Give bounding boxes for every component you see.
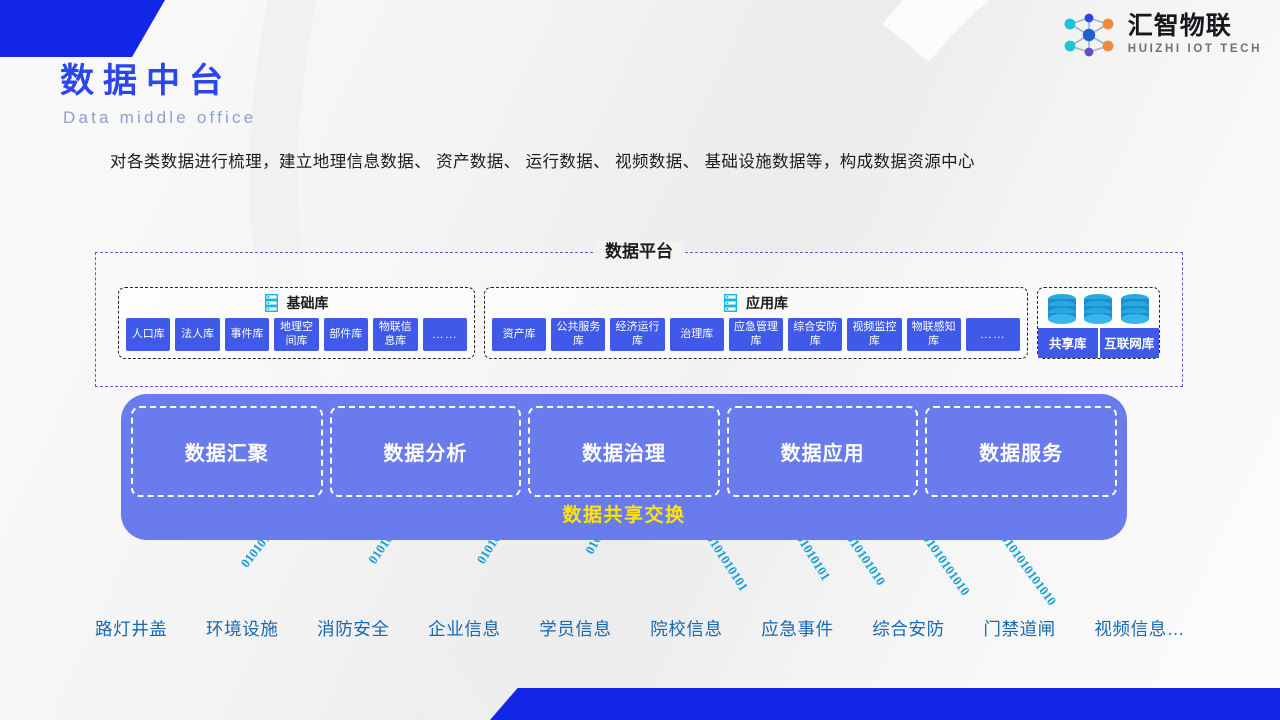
- bottom-tag[interactable]: 院校信息: [650, 616, 722, 641]
- page-title: 数据中台: [60, 64, 232, 98]
- bottom-tag[interactable]: 视频信息…: [1094, 616, 1185, 641]
- capability-cell[interactable]: 数据分析: [330, 406, 522, 497]
- binary-string: 0101010101: [703, 531, 752, 594]
- bottom-tag-row: 路灯井盖 环境设施 消防安全 企业信息 学员信息 院校信息 应急事件 综合安防 …: [95, 616, 1185, 641]
- library-chip[interactable]: 部件库: [324, 318, 368, 351]
- database-cylinder-icon: [1118, 293, 1152, 325]
- application-library-chips: 资产库 公共服务库 经济运行库 治理库 应急管理库 综合安防库 视频监控库 物联…: [492, 318, 1020, 351]
- capability-cell[interactable]: 数据汇聚: [131, 406, 323, 497]
- bottom-tag[interactable]: 学员信息: [539, 616, 611, 641]
- bottom-tag[interactable]: 消防安全: [317, 616, 389, 641]
- database-tag-row: 共享库 互联网库: [1038, 328, 1159, 358]
- database-box: 共享库 互联网库: [1037, 287, 1160, 359]
- library-chip[interactable]: 物联信息库: [373, 318, 417, 351]
- library-chip[interactable]: 物联感知库: [907, 318, 961, 351]
- capability-cell[interactable]: 数据治理: [528, 406, 720, 497]
- server-stack-icon: [724, 294, 737, 312]
- library-chip[interactable]: 公共服务库: [551, 318, 605, 351]
- data-platform-container: 数据平台 基础库 人口库 法人库 事件库 地理空间库 部件库 物联信息库: [95, 252, 1183, 387]
- library-chip[interactable]: 人口库: [126, 318, 170, 351]
- corner-accent-bottom-right: [490, 688, 1280, 720]
- brand-logo: 汇智物联 HUIZHI IOT TECH: [1059, 12, 1262, 58]
- database-tag-internet[interactable]: 互联网库: [1100, 328, 1160, 358]
- binary-string: 01010101010: [919, 531, 973, 599]
- library-chip[interactable]: 资产库: [492, 318, 546, 351]
- library-chip-more[interactable]: ……: [423, 318, 467, 351]
- brand-name-cn: 汇智物联: [1128, 14, 1262, 39]
- library-chip[interactable]: 事件库: [225, 318, 269, 351]
- bottom-tag[interactable]: 门禁道闸: [983, 616, 1055, 641]
- bottom-tag[interactable]: 企业信息: [428, 616, 500, 641]
- application-library-header: 应用库: [492, 292, 1020, 314]
- application-library-label: 应用库: [746, 293, 788, 313]
- page-description: 对各类数据进行梳理，建立地理信息数据、 资产数据、 运行数据、 视频数据、 基础…: [110, 140, 1185, 184]
- capability-cell[interactable]: 数据应用: [727, 406, 919, 497]
- library-chip[interactable]: 视频监控库: [847, 318, 901, 351]
- library-chip-more[interactable]: ……: [966, 318, 1020, 351]
- library-chip[interactable]: 应急管理库: [729, 318, 783, 351]
- basic-library-header: 基础库: [126, 292, 467, 314]
- bottom-tag[interactable]: 综合安防: [872, 616, 944, 641]
- database-cylinder-icon: [1081, 293, 1115, 325]
- data-platform-title: 数据平台: [96, 237, 1182, 262]
- basic-library-label: 基础库: [287, 293, 329, 313]
- bottom-tag[interactable]: 应急事件: [761, 616, 833, 641]
- library-chip[interactable]: 经济运行库: [610, 318, 664, 351]
- brand-name-en: HUIZHI IOT TECH: [1128, 44, 1262, 56]
- library-chip[interactable]: 地理空间库: [274, 318, 318, 351]
- library-chip[interactable]: 综合安防库: [788, 318, 842, 351]
- library-chip[interactable]: 治理库: [670, 318, 724, 351]
- capability-cell[interactable]: 数据服务: [925, 406, 1117, 497]
- page-subtitle: Data middle office: [63, 109, 256, 126]
- basic-library-box: 基础库 人口库 法人库 事件库 地理空间库 部件库 物联信息库 ……: [118, 287, 475, 359]
- capability-band: 数据汇聚 数据分析 数据治理 数据应用 数据服务 数据共享交换: [121, 394, 1127, 540]
- data-platform-title-text: 数据平台: [595, 242, 683, 261]
- bottom-tag[interactable]: 路灯井盖: [95, 616, 167, 641]
- capability-band-footer: 数据共享交换: [121, 500, 1127, 527]
- basic-library-chips: 人口库 法人库 事件库 地理空间库 部件库 物联信息库 ……: [126, 318, 467, 351]
- library-row: 基础库 人口库 法人库 事件库 地理空间库 部件库 物联信息库 ……: [118, 287, 1160, 359]
- binary-string: 0101010101010: [997, 531, 1060, 609]
- library-chip[interactable]: 法人库: [175, 318, 219, 351]
- capability-cell-row: 数据汇聚 数据分析 数据治理 数据应用 数据服务: [131, 406, 1117, 497]
- database-tag-shared[interactable]: 共享库: [1038, 328, 1098, 358]
- database-cylinders: [1044, 293, 1153, 328]
- bottom-tag[interactable]: 环境设施: [206, 616, 278, 641]
- database-cylinder-icon: [1045, 293, 1079, 325]
- server-stack-icon: [265, 294, 278, 312]
- application-library-box: 应用库 资产库 公共服务库 经济运行库 治理库 应急管理库 综合安防库 视频监控…: [484, 287, 1028, 359]
- molecule-network-icon: [1059, 12, 1119, 58]
